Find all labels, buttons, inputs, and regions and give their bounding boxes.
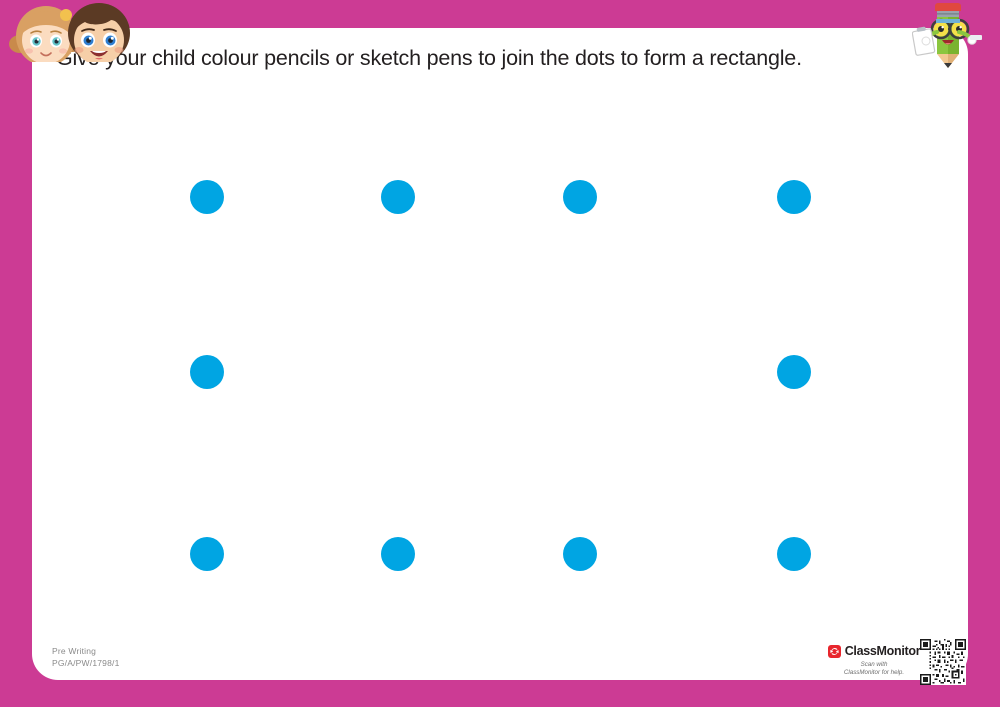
- join-dot: [190, 180, 224, 214]
- join-dot: [190, 537, 224, 571]
- qr-code[interactable]: [920, 639, 966, 685]
- brand-row: ClassMonitor: [826, 644, 922, 658]
- brand-tagline-line1: Scan with: [826, 661, 922, 669]
- brand-block: ClassMonitor Scan with ClassMonitor for …: [826, 644, 922, 677]
- join-dot: [777, 537, 811, 571]
- brand-tagline: Scan with ClassMonitor for help.: [826, 661, 922, 677]
- classmonitor-logo-icon: [828, 645, 841, 658]
- two-children-illustration: [6, 0, 138, 62]
- join-dot: [777, 180, 811, 214]
- pencil-mascot-illustration: [912, 2, 986, 72]
- footer-code-id: PG/A/PW/1798/1: [52, 657, 120, 669]
- footer-codes: Pre Writing PG/A/PW/1798/1: [52, 645, 120, 669]
- brand-name: ClassMonitor: [845, 644, 921, 658]
- brand-tagline-line2: ClassMonitor for help.: [826, 669, 922, 677]
- join-dot: [563, 537, 597, 571]
- worksheet-page: Give your child colour pencils or sketch…: [0, 0, 1000, 707]
- join-dot: [381, 180, 415, 214]
- worksheet-paper: [32, 28, 968, 680]
- join-dot: [563, 180, 597, 214]
- join-dot: [777, 355, 811, 389]
- footer-category: Pre Writing: [52, 645, 120, 657]
- join-dot: [381, 537, 415, 571]
- page-title: Give your child colour pencils or sketch…: [56, 44, 876, 72]
- join-dot: [190, 355, 224, 389]
